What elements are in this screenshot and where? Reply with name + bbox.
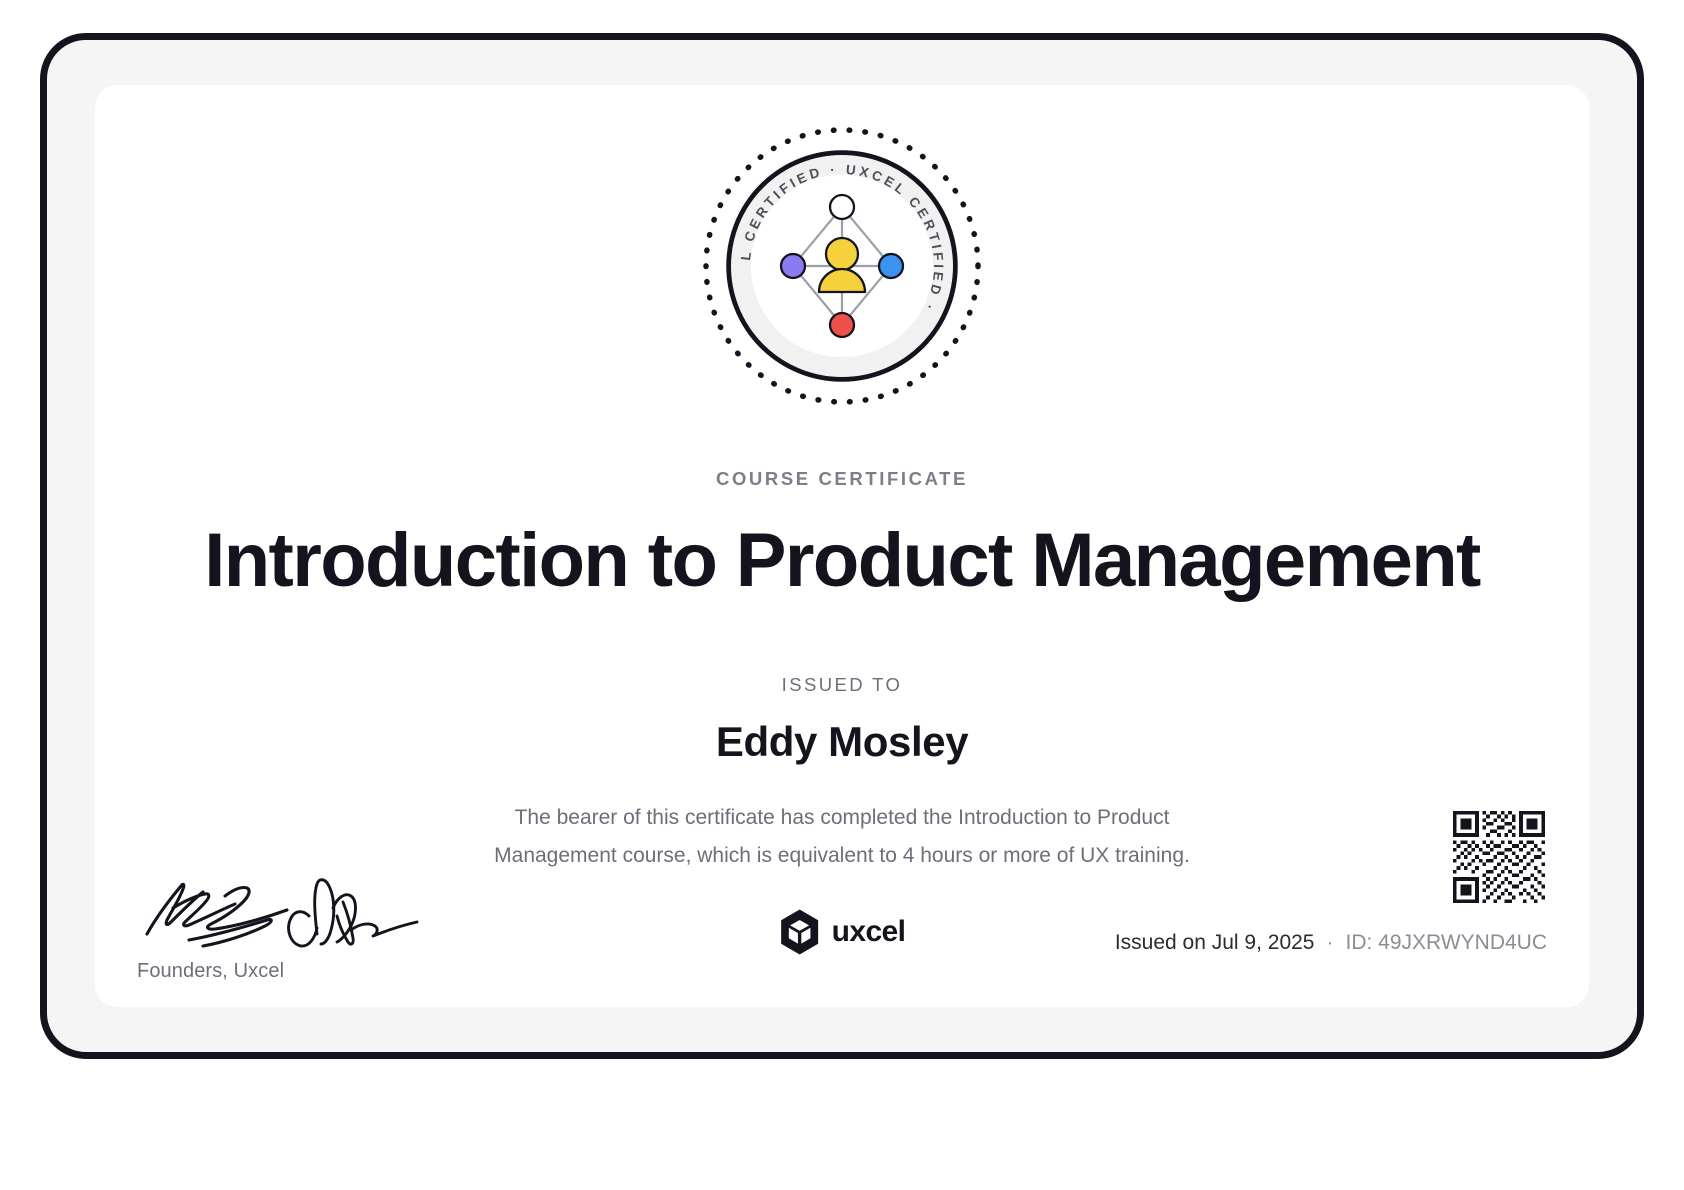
course-title: Introduction to Product Management xyxy=(95,513,1589,609)
seal-node-purple xyxy=(781,254,805,278)
recipient-name: Eddy Mosley xyxy=(95,713,1589,771)
certificate-id: ID: 49JXRWYND4UC xyxy=(1346,931,1548,955)
issued-date: Issued on Jul 9, 2025 xyxy=(1115,931,1315,955)
seal-node-white xyxy=(830,195,854,219)
seal-node-red xyxy=(830,313,854,337)
verification-qr-code[interactable] xyxy=(1453,811,1545,903)
uxcel-brand-logo: uxcel xyxy=(779,909,906,955)
meta-separator: · xyxy=(1327,931,1334,955)
certificate-type-label: COURSE CERTIFICATE xyxy=(95,468,1589,490)
certificate-footer: Founders, Uxcel uxcel xyxy=(95,787,1589,1007)
founders-signature-icon xyxy=(137,856,437,948)
seal-node-blue xyxy=(879,254,903,278)
certificate-frame: UXCEL CERTIFIED · UXCEL CERTIFIED · xyxy=(40,33,1644,1059)
certification-seal: UXCEL CERTIFIED · UXCEL CERTIFIED · xyxy=(697,121,987,411)
issued-to-label: ISSUED TO xyxy=(95,674,1589,696)
certificate-meta: Issued on Jul 9, 2025 · ID: 49JXRWYND4UC xyxy=(1115,931,1547,955)
founders-label: Founders, Uxcel xyxy=(137,960,467,983)
certificate-card: UXCEL CERTIFIED · UXCEL CERTIFIED · xyxy=(95,85,1589,1007)
uxcel-wordmark: uxcel xyxy=(832,915,906,949)
signature-block: Founders, Uxcel xyxy=(137,856,467,983)
uxcel-hexagon-cube-logo-icon xyxy=(779,909,821,955)
